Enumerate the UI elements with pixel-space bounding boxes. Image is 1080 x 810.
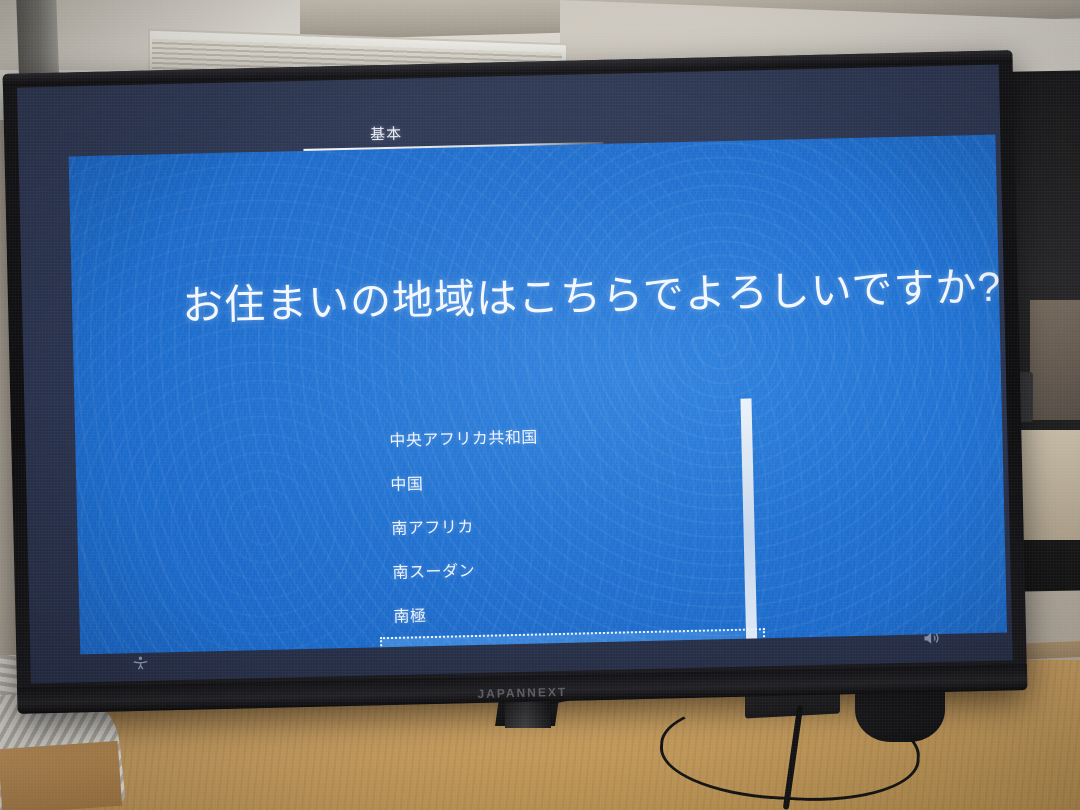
photo-scene: 基本 お住まいの地域はこちらでよろしいですか? 中央アフリカ共和国 中国 南アフ… [0, 0, 1080, 810]
monitor-brand-label: JAPANNEXT [477, 685, 567, 701]
background-clutter-carton [1020, 430, 1080, 540]
list-item-label: 南極 [393, 602, 427, 627]
oobe-content-area: お住まいの地域はこちらでよろしいですか? 中央アフリカ共和国 中国 南アフリカ … [69, 135, 1007, 655]
list-item-label: 南アフリカ [391, 513, 474, 539]
region-list[interactable]: 中央アフリカ共和国 中国 南アフリカ 南スーダン 南極 日本 [375, 408, 766, 654]
page-title: お住まいの地域はこちらでよろしいですか? [181, 253, 962, 331]
ease-of-access-icon[interactable] [130, 653, 150, 673]
volume-icon[interactable] [920, 628, 942, 649]
list-item-label: 日本 [394, 646, 428, 654]
cardboard-piece [0, 741, 122, 810]
list-item-label: 中央アフリカ共和国 [389, 423, 538, 450]
list-item-label: 南スーダン [392, 557, 475, 583]
list-item-label: 中国 [390, 470, 424, 495]
monitor: 基本 お住まいの地域はこちらでよろしいですか? 中央アフリカ共和国 中国 南アフ… [3, 50, 1028, 714]
background-clutter-box [1030, 300, 1080, 420]
monitor-panel: 基本 お住まいの地域はこちらでよろしいですか? 中央アフリカ共和国 中国 南アフ… [17, 65, 1013, 684]
tab-basic[interactable]: 基本 [370, 123, 403, 145]
